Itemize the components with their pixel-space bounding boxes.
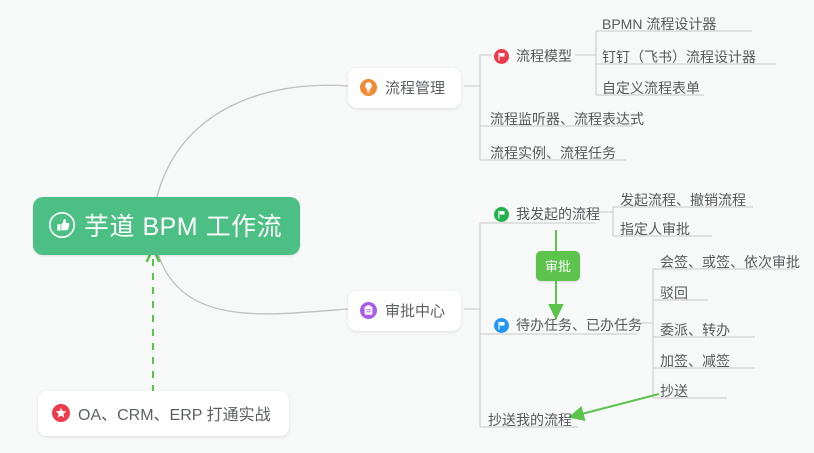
thumbs-up-icon bbox=[49, 212, 75, 238]
oa-crm-erp-card[interactable]: OA、CRM、ERP 打通实战 bbox=[38, 391, 289, 436]
assignee-approval-label: 指定人审批 bbox=[620, 219, 690, 239]
approval-center-label: 审批中心 bbox=[385, 300, 445, 321]
add-remove-sign-label: 加签、减签 bbox=[660, 351, 730, 371]
lightbulb-icon bbox=[360, 79, 377, 96]
my-initiated-process-label: 我发起的流程 bbox=[516, 204, 600, 224]
oa-crm-erp-label: OA、CRM、ERP 打通实战 bbox=[78, 401, 271, 425]
bpmn-designer-label: BPMN 流程设计器 bbox=[602, 14, 716, 34]
reject-label: 驳回 bbox=[660, 283, 688, 303]
node-start-cancel-process[interactable]: 发起流程、撤销流程 bbox=[618, 186, 756, 215]
flag-icon bbox=[494, 49, 509, 64]
node-reject[interactable]: 驳回 bbox=[658, 279, 698, 308]
node-cc-to-me-process[interactable]: 抄送我的流程 bbox=[486, 406, 582, 435]
node-my-initiated-process[interactable]: 我发起的流程 bbox=[492, 200, 610, 229]
process-instance-task-label: 流程实例、流程任务 bbox=[490, 143, 616, 163]
node-process-instance-task[interactable]: 流程实例、流程任务 bbox=[488, 139, 626, 168]
node-assignee-approval[interactable]: 指定人审批 bbox=[618, 215, 700, 244]
process-model-label: 流程模型 bbox=[516, 46, 572, 66]
node-delegate-transfer[interactable]: 委派、转办 bbox=[658, 316, 740, 345]
node-process-management[interactable]: 流程管理 bbox=[348, 68, 461, 108]
countersign-orsign-sequential-label: 会签、或签、依次审批 bbox=[660, 252, 800, 272]
flag-icon bbox=[494, 207, 509, 222]
cc-label: 抄送 bbox=[660, 381, 688, 401]
mindmap-canvas: 芋道 BPM 工作流 流程管理 流程模型 BPMN 流程设计器 钉钉（飞书）流程 bbox=[0, 0, 814, 453]
approval-tag-label: 审批 bbox=[545, 256, 571, 275]
delegate-transfer-label: 委派、转办 bbox=[660, 320, 730, 340]
node-todo-done-tasks[interactable]: 待办任务、已办任务 bbox=[492, 311, 652, 340]
process-management-label: 流程管理 bbox=[385, 77, 445, 98]
node-process-listener-expression[interactable]: 流程监听器、流程表达式 bbox=[488, 105, 654, 134]
node-dingtalk-feishu-designer[interactable]: 钉钉（飞书）流程设计器 bbox=[600, 43, 766, 72]
arrow-cc-to-ccmine bbox=[570, 394, 659, 417]
flag-icon bbox=[494, 318, 509, 333]
root-label: 芋道 BPM 工作流 bbox=[84, 207, 282, 243]
custom-process-form-label: 自定义流程表单 bbox=[602, 78, 700, 98]
dingtalk-feishu-designer-label: 钉钉（飞书）流程设计器 bbox=[602, 47, 756, 67]
clipboard-icon bbox=[360, 302, 377, 319]
node-custom-process-form[interactable]: 自定义流程表单 bbox=[600, 74, 710, 103]
todo-done-tasks-label: 待办任务、已办任务 bbox=[516, 315, 642, 335]
approval-tag[interactable]: 审批 bbox=[536, 251, 580, 281]
node-add-remove-sign[interactable]: 加签、减签 bbox=[658, 347, 740, 376]
node-bpmn-designer[interactable]: BPMN 流程设计器 bbox=[600, 10, 726, 39]
node-countersign-orsign-sequential[interactable]: 会签、或签、依次审批 bbox=[658, 248, 810, 277]
node-cc[interactable]: 抄送 bbox=[658, 377, 698, 406]
link-root-to-process-management bbox=[155, 85, 348, 205]
start-cancel-process-label: 发起流程、撤销流程 bbox=[620, 190, 746, 210]
root-node[interactable]: 芋道 BPM 工作流 bbox=[33, 197, 300, 255]
star-icon bbox=[52, 404, 70, 422]
node-process-model[interactable]: 流程模型 bbox=[492, 42, 582, 71]
process-listener-expression-label: 流程监听器、流程表达式 bbox=[490, 109, 644, 129]
cc-to-me-process-label: 抄送我的流程 bbox=[488, 410, 572, 430]
node-approval-center[interactable]: 审批中心 bbox=[348, 291, 461, 331]
